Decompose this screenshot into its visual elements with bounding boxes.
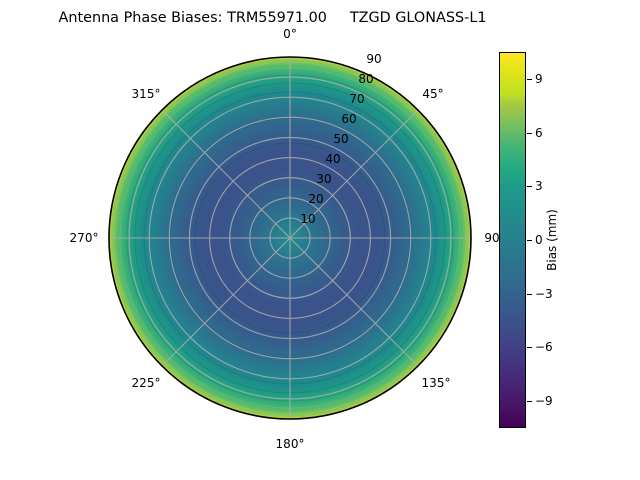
colorbar-ticklabel-0: 0 <box>535 233 543 247</box>
colorbar-tick-3 <box>527 186 532 187</box>
radial-label-40: 40 <box>325 152 340 166</box>
angular-label-0: 0° <box>283 27 297 41</box>
angular-label-225: 225° <box>132 376 161 390</box>
colorbar-axis-label: Bias (mm) <box>545 209 559 271</box>
radial-label-50: 50 <box>333 132 348 146</box>
colorbar-ticklabel-3: 3 <box>535 179 543 193</box>
radial-label-20: 20 <box>308 192 323 206</box>
colorbar-ticklabel-neg9: −9 <box>535 394 553 408</box>
colorbar-tick-6 <box>527 133 532 134</box>
colorbar-gradient <box>499 52 526 428</box>
figure-canvas: Antenna Phase Biases: TRM55971.00 TZGD G… <box>0 0 640 480</box>
polar-axes[interactable]: 0° 45° 90° 135° 180° 225° 270° 315° 10 2… <box>108 56 472 420</box>
radial-label-70: 70 <box>349 92 364 106</box>
colorbar-ticklabel-9: 9 <box>535 72 543 86</box>
colorbar-ticklabel-neg3: −3 <box>535 287 553 301</box>
radial-label-90: 90 <box>366 52 381 66</box>
colorbar-tick-neg9 <box>527 401 532 402</box>
page-title: Antenna Phase Biases: TRM55971.00 TZGD G… <box>0 10 545 26</box>
radial-label-60: 60 <box>341 112 356 126</box>
angular-label-315: 315° <box>132 87 161 101</box>
radial-label-30: 30 <box>316 172 331 186</box>
radial-label-10: 10 <box>300 212 315 226</box>
colorbar-tick-neg6 <box>527 347 532 348</box>
polar-plot-svg <box>108 56 472 420</box>
colorbar-tick-9 <box>527 79 532 80</box>
angular-label-45: 45° <box>422 87 443 101</box>
angular-label-180: 180° <box>276 437 305 451</box>
angular-label-270: 270° <box>70 231 99 245</box>
radial-label-80: 80 <box>358 72 373 86</box>
colorbar-tick-0 <box>527 240 532 241</box>
angular-label-135: 135° <box>422 376 451 390</box>
colorbar-ticklabel-6: 6 <box>535 126 543 140</box>
polar-grid <box>109 57 471 419</box>
colorbar[interactable]: 9 6 3 0 −3 −6 −9 <box>499 52 526 428</box>
colorbar-ticklabel-neg6: −6 <box>535 340 553 354</box>
colorbar-tick-neg3 <box>527 294 532 295</box>
